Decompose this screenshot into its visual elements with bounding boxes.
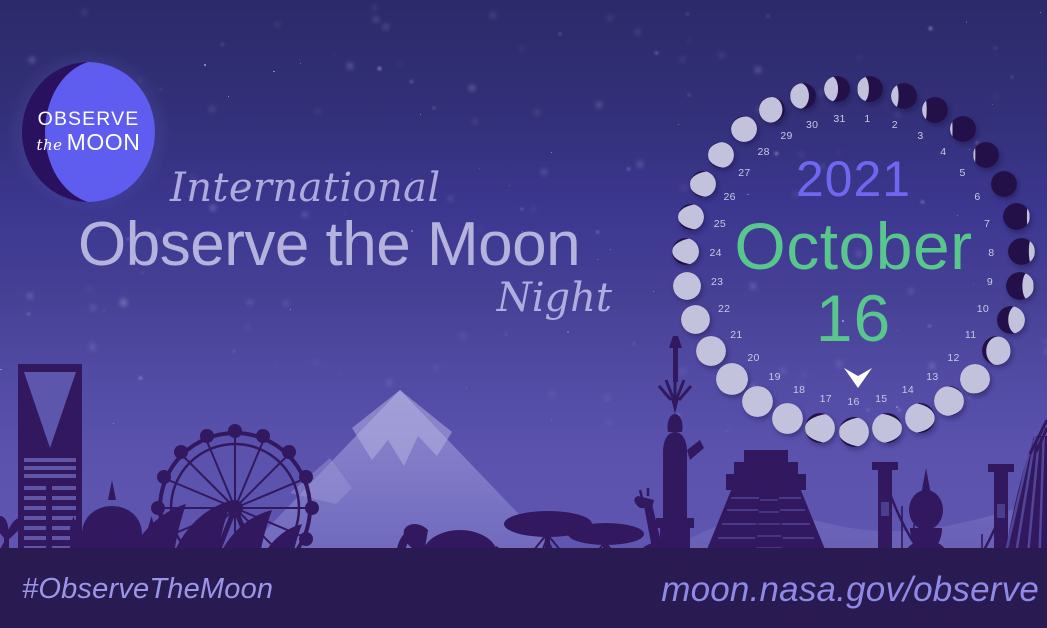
moon-phase-day-label-10: 10 [977, 303, 989, 315]
star [316, 110, 319, 113]
star [334, 54, 335, 55]
star [221, 43, 223, 45]
star [551, 152, 552, 153]
star [300, 63, 301, 64]
star [767, 15, 769, 17]
moon-phase-day-label-6: 6 [974, 191, 980, 203]
star [276, 23, 279, 26]
moon-phase-day-24 [672, 238, 699, 265]
moon-phase-day-label-30: 30 [806, 119, 818, 131]
moon-phase-day-3 [922, 97, 948, 123]
headline-observe-the-moon: Observe the Moon [78, 214, 640, 276]
star [378, 67, 381, 70]
moon-dark-limb [973, 142, 999, 168]
star [653, 291, 654, 292]
moon-phase-day-6 [991, 171, 1017, 197]
moon-phase-day-label-27: 27 [738, 167, 750, 179]
star [373, 6, 376, 9]
star [688, 40, 691, 43]
moon-phase-day-label-22: 22 [718, 303, 730, 315]
moon-phase-day-label-24: 24 [710, 247, 722, 259]
logo-word-the: the [36, 138, 62, 153]
moon-phase-day-label-28: 28 [757, 146, 769, 158]
headline-night: Night [0, 278, 612, 318]
star [597, 103, 601, 107]
moon-phase-day-5 [973, 142, 999, 168]
moon-phase-day-label-31: 31 [833, 113, 845, 125]
star [210, 107, 214, 111]
moon-dark-limb [991, 171, 1017, 197]
moon-phase-day-label-9: 9 [987, 276, 993, 288]
moon-phase-day-2 [891, 83, 917, 109]
star [410, 80, 413, 83]
headline-block: International Observe the Moon Night [0, 168, 640, 318]
star [559, 33, 561, 35]
star [638, 162, 642, 166]
star [966, 21, 968, 23]
star [535, 111, 539, 115]
poster: OBSERVE the MOON International Observe t… [0, 0, 1047, 628]
star [420, 114, 421, 115]
moon-phase-day-label-4: 4 [940, 146, 946, 158]
moon-dark-limb [1003, 203, 1030, 230]
moon-phase-day-label-29: 29 [780, 130, 792, 142]
moon-phase-day-25 [678, 204, 704, 230]
moon-phase-day-label-1: 1 [864, 113, 870, 125]
moon-phase-day-label-2: 2 [892, 119, 898, 131]
moon-phase-day-label-5: 5 [960, 167, 966, 179]
star [636, 30, 640, 34]
star [470, 86, 474, 90]
headline-international: International [170, 168, 640, 208]
star [398, 62, 401, 65]
star [720, 53, 724, 57]
moon-phase-day-28 [731, 116, 757, 142]
moon-phase-day-label-3: 3 [917, 130, 923, 142]
star [273, 71, 275, 73]
star [228, 96, 229, 97]
moon-phase-day-label-23: 23 [711, 276, 723, 288]
logo-word-moon: MOON [67, 131, 141, 154]
star [384, 25, 388, 29]
star [994, 47, 996, 49]
star [520, 47, 523, 50]
star [655, 52, 657, 54]
star [491, 13, 495, 17]
moon-phase-day-31 [824, 76, 850, 102]
moon-phase-day-1 [857, 76, 883, 102]
moon-phase-day-26 [690, 171, 716, 197]
star [473, 119, 477, 123]
star [348, 64, 352, 68]
moon-dark-limb [950, 116, 976, 142]
moon-phase-day-8 [1008, 238, 1035, 265]
moon-phase-day-label-26: 26 [723, 191, 735, 203]
star [608, 16, 612, 20]
moon-phase-day-label-8: 8 [988, 247, 994, 259]
moon-phase-day-23 [673, 272, 701, 300]
moon-phase-day-29 [759, 97, 785, 123]
star [686, 13, 688, 15]
moon-phase-day-4 [950, 116, 976, 142]
star [204, 64, 206, 66]
star [160, 89, 162, 91]
logo-line-observe: OBSERVE [38, 110, 140, 130]
hashtag-text[interactable]: #ObserveTheMoon [22, 573, 273, 606]
star [374, 18, 377, 21]
moon-phase-day-27 [708, 142, 734, 168]
moon-lit-limb [673, 272, 701, 300]
star [858, 56, 861, 59]
moon-phase-day-9 [1006, 272, 1034, 300]
moon-phase-day-30 [790, 83, 816, 109]
star [929, 27, 931, 29]
moon-phase-day-label-7: 7 [984, 218, 990, 230]
moon-phase-day-label-25: 25 [714, 218, 726, 230]
moon-phase-day-7 [1003, 203, 1030, 230]
website-url[interactable]: moon.nasa.gov/observe [661, 570, 1039, 610]
star [433, 107, 435, 109]
star [83, 11, 86, 14]
star [1040, 12, 1041, 13]
